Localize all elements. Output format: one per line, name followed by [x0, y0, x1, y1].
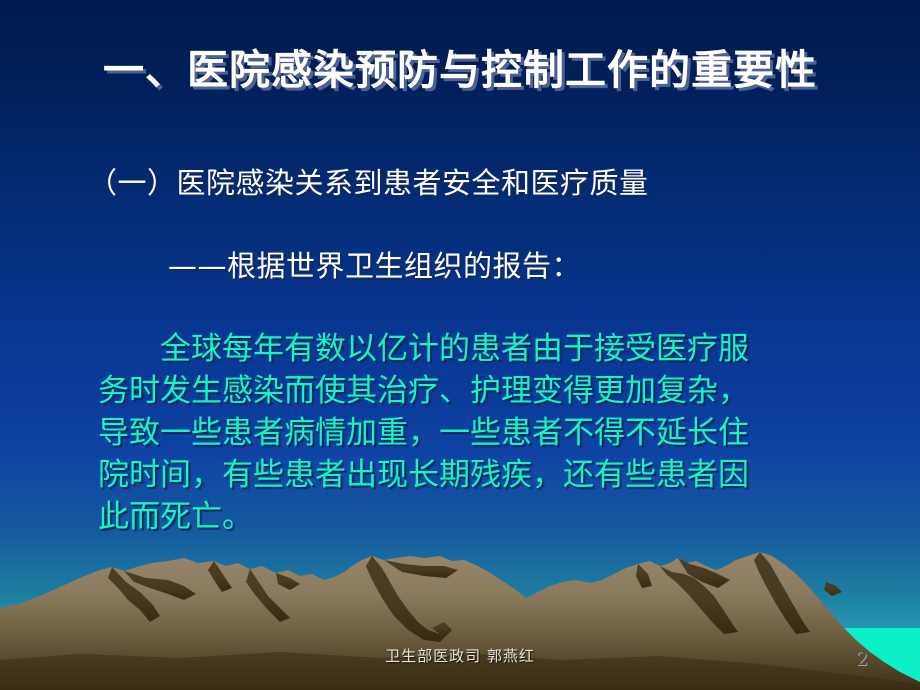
mountain-range-graphic	[0, 530, 920, 690]
slide-body-text: 全球每年有数以亿计的患者由于接受医疗服务时发生感染而使其治疗、护理变得更加复杂，…	[98, 328, 758, 538]
slide-title: 一、医院感染预防与控制工作的重要性	[0, 46, 920, 95]
slide-page-number: 2	[856, 648, 868, 670]
presentation-slide: 一、医院感染预防与控制工作的重要性 （一）医院感染关系到患者安全和医疗质量 ——…	[0, 0, 920, 690]
slide-footer: 卫生部医政司 郭燕红	[0, 645, 920, 666]
slide-source-line: ——根据世界卫生组织的报告：	[168, 243, 581, 285]
slide-subheading: （一）医院感染关系到患者安全和医疗质量	[88, 160, 649, 202]
mountain-shadow-13	[824, 582, 842, 596]
